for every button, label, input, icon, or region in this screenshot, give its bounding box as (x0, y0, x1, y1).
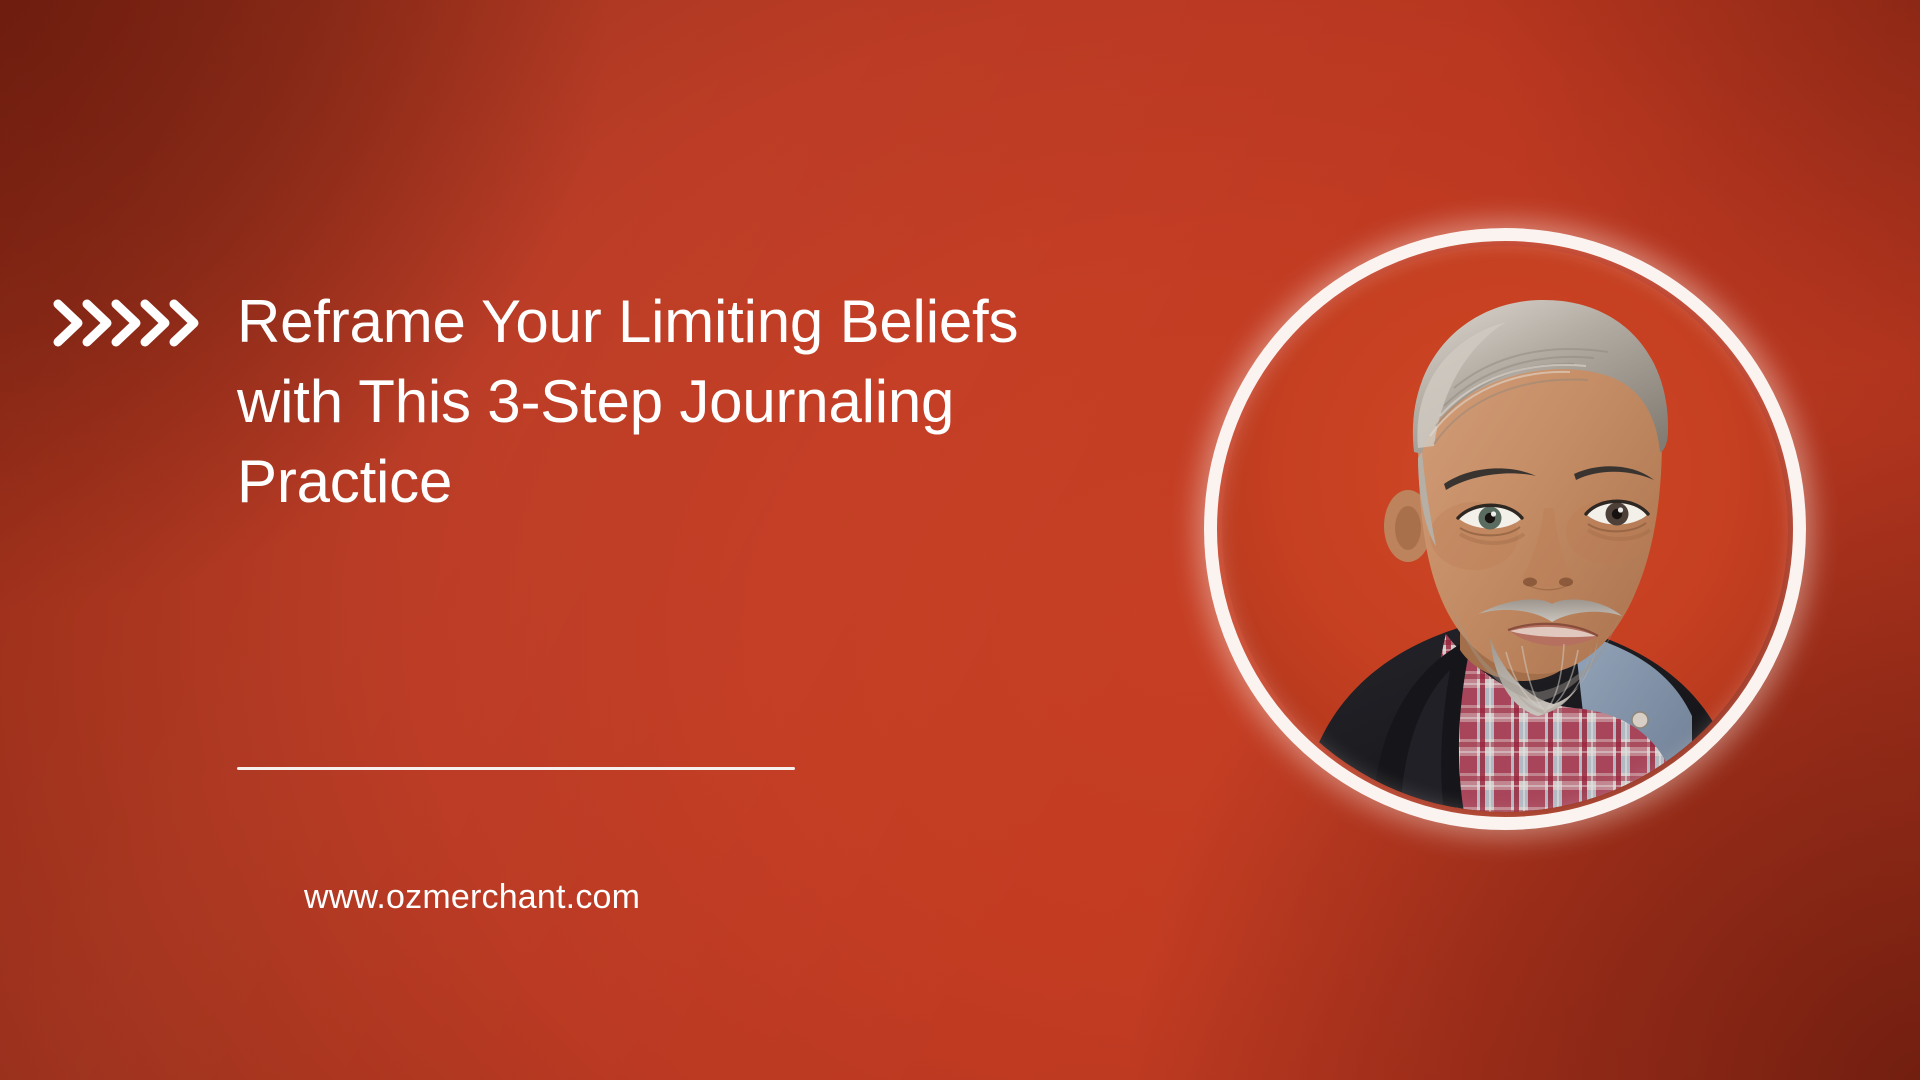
chevrons-right-icon (52, 294, 212, 352)
website-url: www.ozmerchant.com (304, 880, 640, 914)
page-title: Reframe Your Limiting Beliefs with This … (237, 282, 1027, 521)
avatar-ring (1204, 228, 1806, 830)
social-card-slide: Reframe Your Limiting Beliefs with This … (0, 0, 1920, 1080)
divider-rule (237, 767, 795, 770)
text-content-column: Reframe Your Limiting Beliefs with This … (0, 0, 1000, 1080)
avatar (1204, 228, 1806, 830)
